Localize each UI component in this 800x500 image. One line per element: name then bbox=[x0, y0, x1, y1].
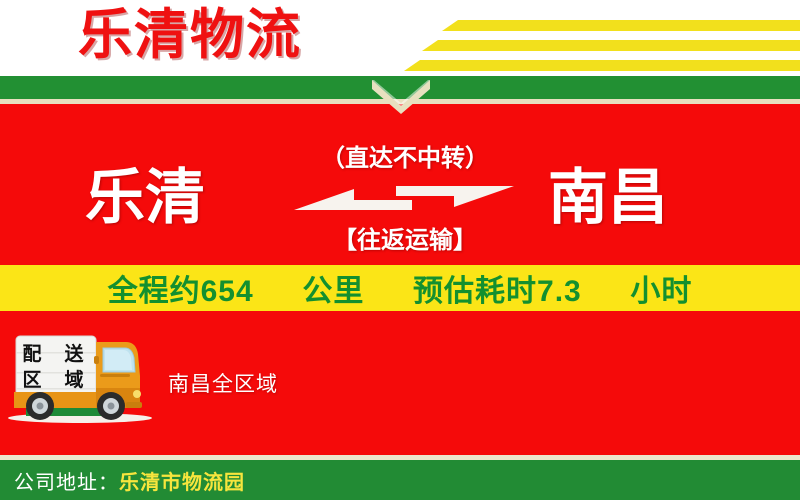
duration-unit: 小时 bbox=[630, 275, 692, 308]
coverage-label: 南昌全区域 bbox=[168, 368, 278, 398]
route-note-direct: （直达不中转） bbox=[300, 138, 510, 173]
origin-city: 乐清 bbox=[85, 166, 205, 230]
bidirectional-arrow-icon bbox=[294, 176, 514, 220]
stripe-1 bbox=[442, 20, 800, 31]
decorative-stripes bbox=[410, 8, 800, 70]
delivery-truck-icon: 配 送 区 域 bbox=[8, 328, 158, 433]
address-value: 乐清市物流园 bbox=[119, 472, 245, 494]
stats-bar: 全程约654 公里 预估耗时7.3 小时 bbox=[0, 265, 800, 311]
logistics-banner: 乐清物流 乐清 （直达不中转） 【往返运输】 南昌 全程约654 bbox=[0, 0, 800, 500]
duration-text: 预估耗时7.3 bbox=[413, 275, 582, 308]
brand-title: 乐清物流 bbox=[78, 2, 302, 68]
destination-city: 南昌 bbox=[548, 166, 668, 230]
company-address: 公司地址：乐清市物流园 bbox=[14, 466, 245, 495]
address-label: 公司地址： bbox=[14, 472, 119, 494]
route-note-roundtrip: 【往返运输】 bbox=[300, 220, 510, 255]
svg-text:配: 配 bbox=[22, 343, 41, 365]
stripe-2 bbox=[422, 40, 800, 51]
stripe-3 bbox=[404, 60, 800, 71]
header-zone: 乐清物流 bbox=[0, 0, 800, 76]
footer-bar: 公司地址：乐清市物流园 bbox=[0, 460, 800, 500]
svg-text:区: 区 bbox=[22, 370, 41, 391]
distance-text: 全程约654 bbox=[108, 275, 254, 308]
stats-text: 全程约654 公里 预估耗时7.3 小时 bbox=[105, 266, 696, 310]
svg-text:域: 域 bbox=[64, 368, 83, 391]
svg-text:送: 送 bbox=[64, 342, 84, 365]
distance-unit: 公里 bbox=[302, 275, 364, 308]
chevron-down-icon bbox=[370, 80, 432, 114]
